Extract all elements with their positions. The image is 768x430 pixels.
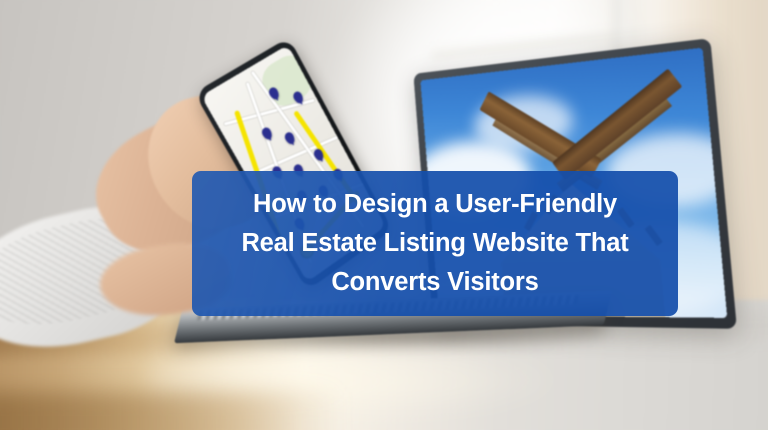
- desk-front-shadow: [0, 392, 340, 430]
- title-overlay-banner: How to Design a User-Friendly Real Estat…: [192, 171, 678, 316]
- featured-image-canvas: How to Design a User-Friendly Real Estat…: [0, 0, 768, 430]
- page-title-line-3: Converts Visitors: [331, 263, 538, 302]
- page-title-line-1: How to Design a User-Friendly: [253, 185, 617, 224]
- page-title-line-2: Real Estate Listing Website That: [241, 224, 628, 263]
